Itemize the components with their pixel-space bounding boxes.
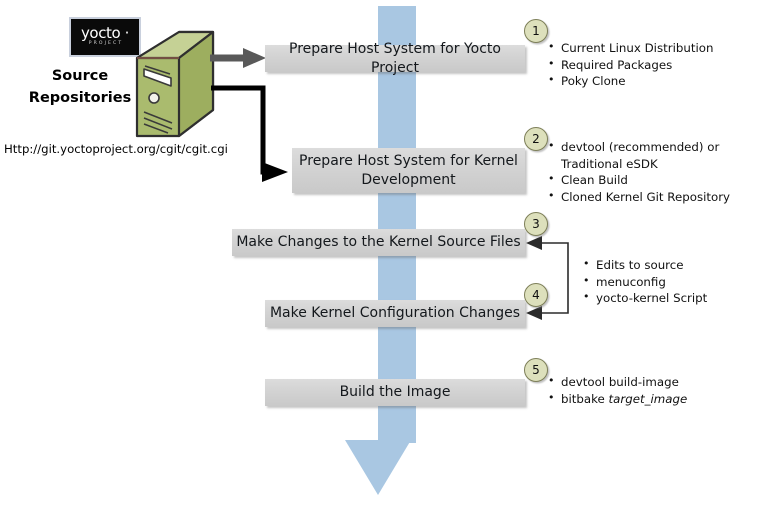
step-number-5: 5 [524,358,548,382]
process-box-step1[interactable]: Prepare Host System for Yocto Project [265,45,525,72]
bitbake-command-prefix: bitbake [561,392,609,406]
list-item: Cloned Kernel Git Repository [548,189,748,206]
list-item: Required Packages [548,57,758,74]
list-item: Edits to source [583,257,763,274]
bullet-list-step1: Current Linux Distribution Required Pack… [548,40,758,90]
step-number-3: 3 [524,212,548,236]
bullet-list-step2: devtool (recommended) or Traditional eSD… [548,139,748,205]
diagram-canvas: yocto · PROJECT Source Repositories Http… [0,0,769,517]
bullet-list-step5: devtool build-image bitbake target_image [548,374,748,407]
list-item: Clean Build [548,172,748,189]
bullet-list-steps-3-4: Edits to source menuconfig yocto-kernel … [583,257,763,307]
bitbake-target-placeholder: target_image [609,392,688,406]
bracket-connector-steps-3-4 [526,236,568,320]
arrow-server-to-step1 [210,48,266,68]
list-item: devtool build-image [548,374,748,391]
process-box-step3[interactable]: Make Changes to the Kernel Source Files [232,229,525,256]
list-item: Poky Clone [548,73,758,90]
process-box-step2[interactable]: Prepare Host System for Kernel Developme… [292,148,525,193]
process-box-step5[interactable]: Build the Image [265,379,525,406]
list-item: Current Linux Distribution [548,40,758,57]
step-number-4: 4 [524,283,548,307]
list-item: yocto-kernel Script [583,290,763,307]
list-item: menuconfig [583,274,763,291]
arrow-server-to-step2 [211,88,288,182]
process-box-step4[interactable]: Make Kernel Configuration Changes [265,300,525,327]
step-number-1: 1 [524,19,548,43]
step-number-2: 2 [524,127,548,151]
list-item: bitbake target_image [548,391,748,408]
list-item: devtool (recommended) or Traditional eSD… [548,139,748,172]
